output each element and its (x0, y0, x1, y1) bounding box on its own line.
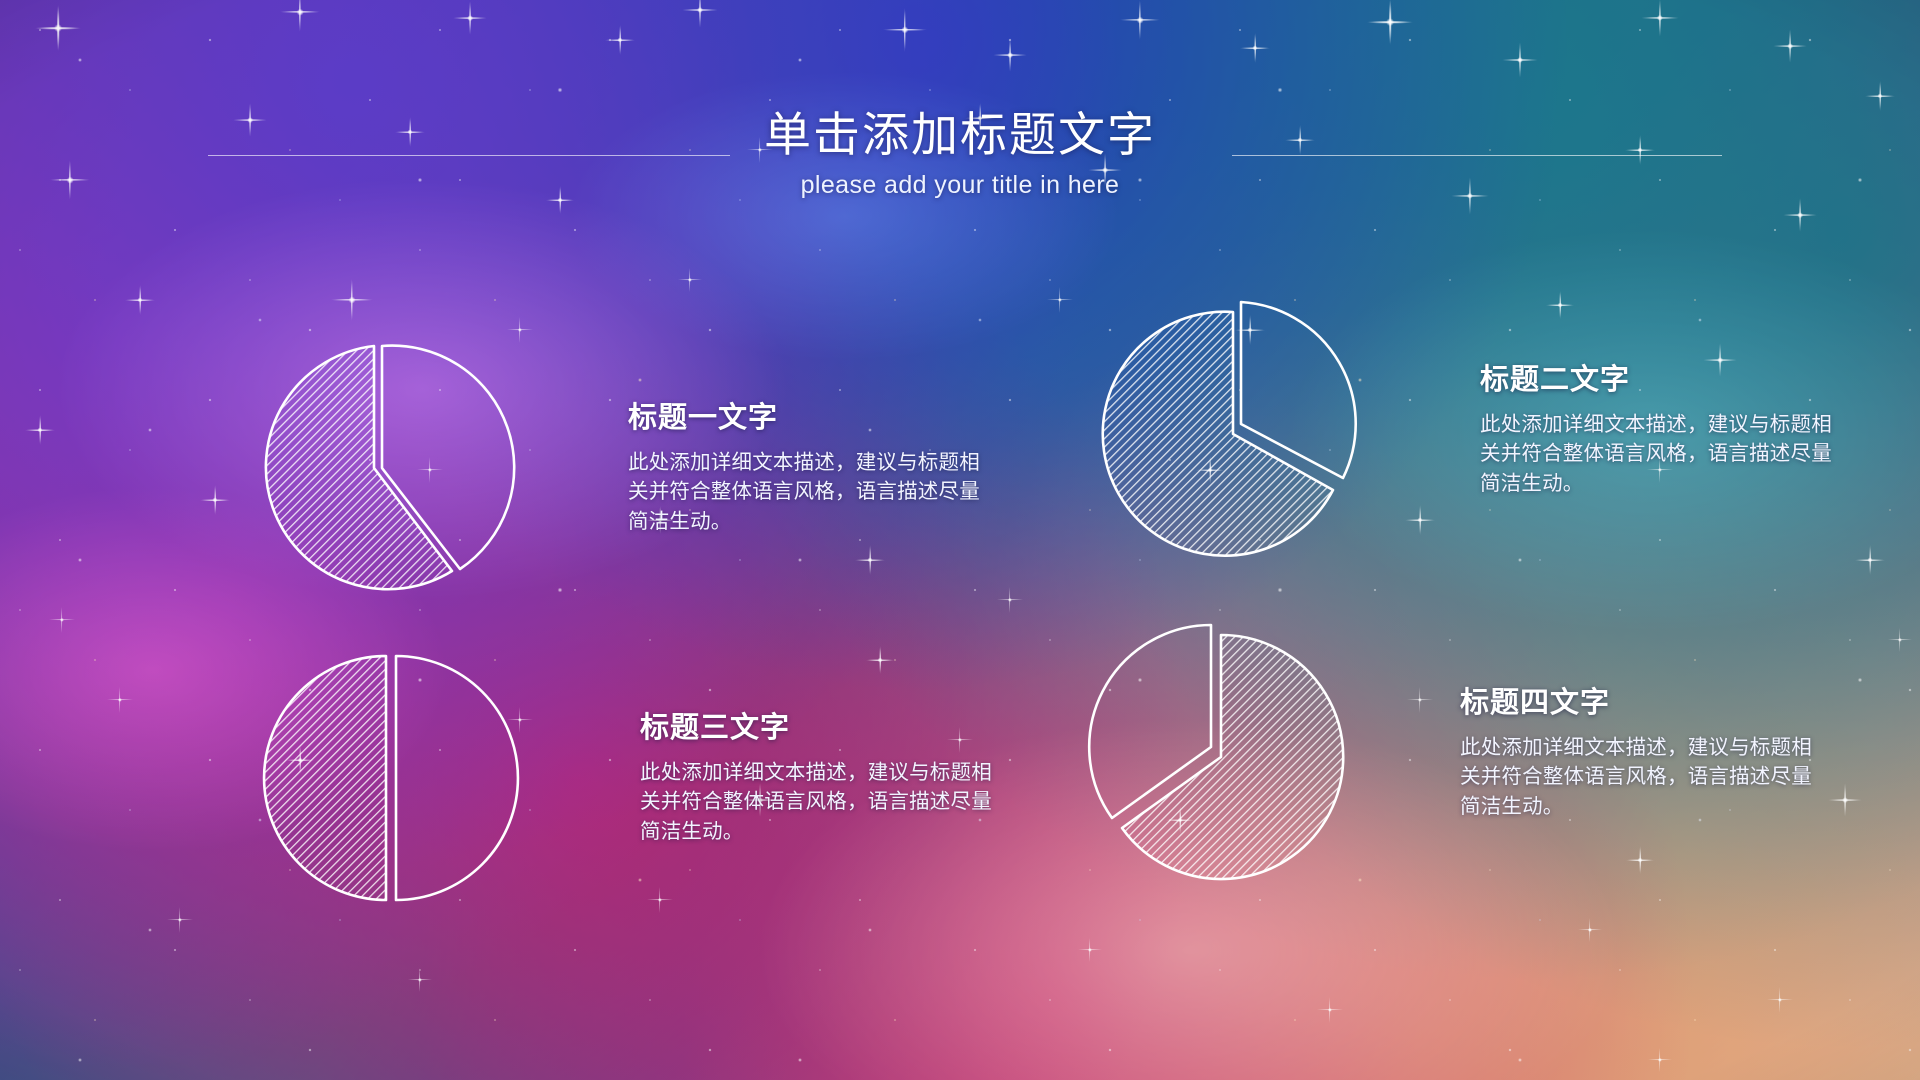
divider-line-right (1232, 155, 1722, 156)
item-4-body: 此处添加详细文本描述，建议与标题相关并符合整体语言风格，语言描述尽量简洁生动。 (1460, 733, 1820, 820)
slide-header: 单击添加标题文字 please add your title in here (0, 105, 1920, 200)
divider-line-left (208, 155, 730, 156)
pie-chart-3-svg (240, 610, 540, 940)
content-item-2[interactable]: 标题二文字 此处添加详细文本描述，建议与标题相关并符合整体语言风格，语言描述尽量… (1085, 262, 1840, 592)
pie-4-slice-filled (1122, 635, 1343, 879)
pie-chart-2[interactable] (1085, 262, 1385, 592)
item-4-heading: 标题四文字 (1460, 679, 1820, 721)
item-1-heading: 标题一文字 (628, 394, 988, 436)
content-item-3[interactable]: 标题三文字 此处添加详细文本描述，建议与标题相关并符合整体语言风格，语言描述尽量… (240, 610, 1000, 940)
pie-chart-1[interactable] (228, 300, 528, 630)
content-item-3-text: 标题三文字 此处添加详细文本描述，建议与标题相关并符合整体语言风格，语言描述尽量… (640, 704, 1000, 845)
pie-chart-1-svg (228, 300, 528, 630)
content-item-4[interactable]: 标题四文字 此处添加详细文本描述，建议与标题相关并符合整体语言风格，语言描述尽量… (1065, 585, 1820, 915)
page-title: 单击添加标题文字 (764, 105, 1156, 167)
pie-3-slice-filled (264, 656, 386, 900)
title-row: 单击添加标题文字 (0, 105, 1920, 167)
content-item-1[interactable]: 标题一文字 此处添加详细文本描述，建议与标题相关并符合整体语言风格，语言描述尽量… (228, 300, 988, 630)
pie-2-slice-filled (1103, 312, 1333, 556)
item-2-body: 此处添加详细文本描述，建议与标题相关并符合整体语言风格，语言描述尽量简洁生动。 (1480, 410, 1840, 497)
content-item-4-text: 标题四文字 此处添加详细文本描述，建议与标题相关并符合整体语言风格，语言描述尽量… (1460, 679, 1820, 820)
item-3-heading: 标题三文字 (640, 704, 1000, 746)
pie-chart-3[interactable] (240, 610, 540, 940)
page-subtitle: please add your title in here (0, 171, 1920, 200)
pie-1-slice-filled (266, 346, 452, 589)
pie-chart-4-svg (1065, 585, 1365, 915)
pie-chart-4[interactable] (1065, 585, 1365, 915)
item-3-body: 此处添加详细文本描述，建议与标题相关并符合整体语言风格，语言描述尽量简洁生动。 (640, 758, 1000, 845)
item-1-body: 此处添加详细文本描述，建议与标题相关并符合整体语言风格，语言描述尽量简洁生动。 (628, 448, 988, 535)
slide-canvas: 单击添加标题文字 please add your title in here 标… (0, 0, 1920, 1080)
item-2-heading: 标题二文字 (1480, 356, 1840, 398)
content-item-1-text: 标题一文字 此处添加详细文本描述，建议与标题相关并符合整体语言风格，语言描述尽量… (628, 394, 988, 535)
pie-chart-2-svg (1085, 262, 1385, 592)
content-item-2-text: 标题二文字 此处添加详细文本描述，建议与标题相关并符合整体语言风格，语言描述尽量… (1480, 356, 1840, 497)
pie-3-slice-empty (396, 656, 518, 900)
